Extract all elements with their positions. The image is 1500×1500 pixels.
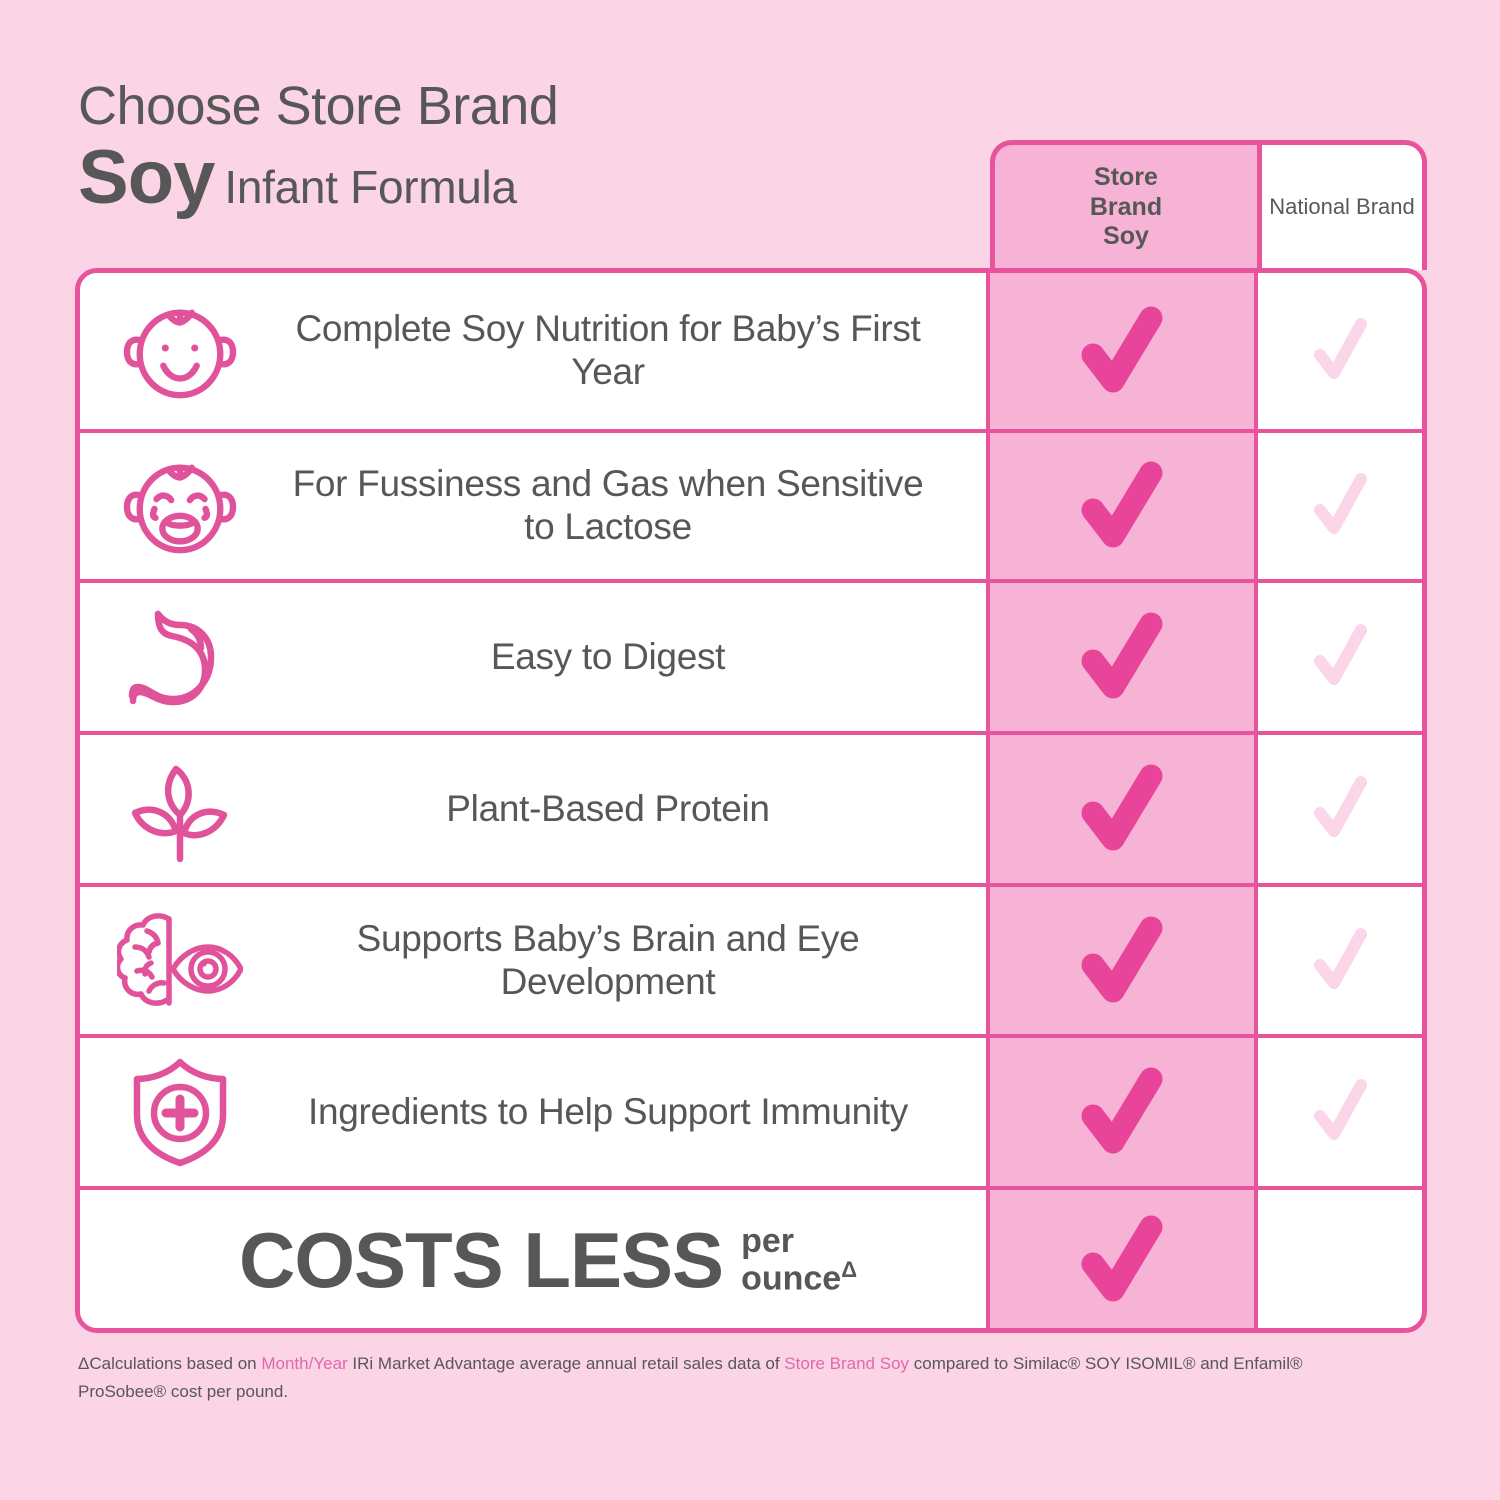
- feature-label: Complete Soy Nutrition for Baby’s First …: [280, 308, 986, 394]
- column-header-national-brand-label: National Brand: [1269, 194, 1415, 220]
- store-brand-cell: [990, 1190, 1258, 1330]
- feature-label: For Fussiness and Gas when Sensitive to …: [280, 463, 986, 549]
- national-brand-cell: [1258, 1038, 1422, 1186]
- store-brand-cell: [990, 273, 1258, 429]
- feature-label: Plant-Based Protein: [280, 788, 986, 831]
- table-row: Complete Soy Nutrition for Baby’s First …: [80, 273, 1422, 433]
- national-brand-cell: [1258, 273, 1422, 429]
- checkmark-icon: [1079, 460, 1165, 552]
- plant-leaf-icon: [80, 753, 280, 865]
- column-header-store-brand: StoreBrandSoy: [990, 140, 1262, 270]
- column-header-store-brand-label: StoreBrandSoy: [1090, 163, 1162, 252]
- national-brand-cell: [1258, 735, 1422, 883]
- feature-label: Ingredients to Help Support Immunity: [280, 1091, 986, 1134]
- checkmark-icon: [1309, 470, 1371, 542]
- feature-label: Easy to Digest: [280, 636, 986, 679]
- national-brand-cell: [1258, 583, 1422, 731]
- store-brand-cell: [990, 887, 1258, 1034]
- table-row: Plant-Based Protein: [80, 735, 1422, 887]
- baby-face-happy-icon: [80, 297, 280, 405]
- feature-cell: Plant-Based Protein: [80, 735, 990, 883]
- table-row: Easy to Digest: [80, 583, 1422, 735]
- costs-less-headline: COSTS LESS: [239, 1221, 723, 1299]
- table-row: Ingredients to Help Support Immunity: [80, 1038, 1422, 1190]
- shield-cross-icon: [80, 1056, 280, 1168]
- qualifier-line-2: ounce: [741, 1259, 841, 1297]
- checkmark-icon: [1079, 1214, 1165, 1306]
- footnote-part-2: IRi Market Advantage average annual reta…: [348, 1354, 785, 1373]
- feature-cell: Ingredients to Help Support Immunity: [80, 1038, 990, 1186]
- footnote-part-1: ΔCalculations based on: [78, 1354, 261, 1373]
- feature-label: Supports Baby’s Brain and Eye Developmen…: [280, 918, 986, 1004]
- checkmark-icon: [1309, 621, 1371, 693]
- store-brand-cell: [990, 583, 1258, 731]
- page-title: Choose Store Brand: [78, 78, 978, 134]
- checkmark-icon: [1079, 305, 1165, 397]
- store-brand-cell: [990, 433, 1258, 579]
- column-header-national-brand: National Brand: [1262, 140, 1427, 270]
- feature-cell: For Fussiness and Gas when Sensitive to …: [80, 433, 990, 579]
- national-brand-cell: [1258, 887, 1422, 1034]
- checkmark-icon: [1309, 315, 1371, 387]
- brain-eye-icon: [80, 907, 280, 1015]
- footnote-store-brand-soy: Store Brand Soy: [784, 1354, 909, 1373]
- feature-cell: Easy to Digest: [80, 583, 990, 731]
- feature-cell: Supports Baby’s Brain and Eye Developmen…: [80, 887, 990, 1034]
- subtitle-text: Infant Formula: [224, 161, 516, 213]
- comparison-table: Complete Soy Nutrition for Baby’s First …: [75, 268, 1427, 1333]
- brand-word: Soy: [78, 135, 214, 220]
- stomach-icon: [80, 602, 280, 712]
- table-row: Supports Baby’s Brain and Eye Developmen…: [80, 887, 1422, 1038]
- checkmark-icon: [1079, 763, 1165, 855]
- footnote: ΔCalculations based on Month/Year IRi Ma…: [78, 1350, 1348, 1406]
- table-row-costs-less: COSTS LESS perounceΔ: [80, 1190, 1422, 1330]
- store-brand-cell: [990, 735, 1258, 883]
- checkmark-icon: [1309, 1076, 1371, 1148]
- checkmark-icon: [1079, 611, 1165, 703]
- table-row: For Fussiness and Gas when Sensitive to …: [80, 433, 1422, 583]
- feature-cell: Complete Soy Nutrition for Baby’s First …: [80, 273, 990, 429]
- store-brand-cell: [990, 1038, 1258, 1186]
- page-subtitle: SoyInfant Formula: [78, 140, 978, 216]
- costs-less-block: COSTS LESS perounceΔ: [239, 1221, 857, 1299]
- checkmark-icon: [1309, 925, 1371, 997]
- qualifier-marker: Δ: [841, 1257, 857, 1282]
- baby-face-crying-icon: [80, 452, 280, 560]
- checkmark-icon: [1309, 773, 1371, 845]
- feature-cell: COSTS LESS perounceΔ: [80, 1190, 990, 1330]
- checkmark-icon: [1079, 915, 1165, 1007]
- title-block: Choose Store Brand SoyInfant Formula: [78, 78, 978, 216]
- footnote-month-year: Month/Year: [261, 1354, 347, 1373]
- national-brand-cell: [1258, 433, 1422, 579]
- costs-less-qualifier: perounceΔ: [741, 1224, 857, 1296]
- qualifier-line-1: per: [741, 1222, 794, 1260]
- national-brand-cell-empty: [1258, 1190, 1422, 1330]
- checkmark-icon: [1079, 1066, 1165, 1158]
